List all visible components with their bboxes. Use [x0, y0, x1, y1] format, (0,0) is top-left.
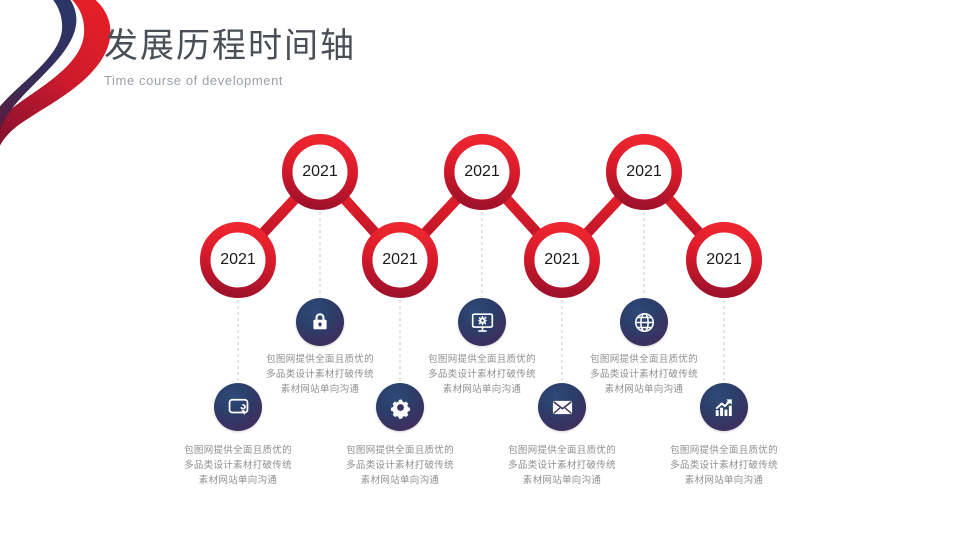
- description-line: 多品类设计素材打破传统: [407, 367, 557, 382]
- timeline-connector: [341, 195, 380, 237]
- timeline-description: 包图网提供全面且质优的多品类设计素材打破传统素材网站单向沟通: [569, 352, 719, 397]
- description-line: 多品类设计素材打破传统: [569, 367, 719, 382]
- slide-canvas: 发展历程时间轴 Time course of development 20212…: [0, 0, 960, 540]
- description-line: 素材网站单向沟通: [487, 473, 637, 488]
- timeline-year-label: 2021: [282, 163, 358, 181]
- description-line: 素材网站单向沟通: [649, 473, 799, 488]
- timeline-year-label: 2021: [362, 251, 438, 269]
- timeline-year-label: 2021: [200, 251, 276, 269]
- globe-icon[interactable]: [620, 298, 668, 346]
- timeline-year-label: 2021: [686, 251, 762, 269]
- timeline-description: 包图网提供全面且质优的多品类设计素材打破传统素材网站单向沟通: [407, 352, 557, 397]
- description-line: 多品类设计素材打破传统: [245, 367, 395, 382]
- timeline-connector: [665, 195, 704, 237]
- timeline-connector: [421, 194, 461, 237]
- timeline-connector: [259, 194, 299, 237]
- timeline-description: 包图网提供全面且质优的多品类设计素材打破传统素材网站单向沟通: [325, 443, 475, 488]
- timeline-description: 包图网提供全面且质优的多品类设计素材打破传统素材网站单向沟通: [649, 443, 799, 488]
- description-line: 素材网站单向沟通: [569, 382, 719, 397]
- description-line: 多品类设计素材打破传统: [163, 458, 313, 473]
- description-line: 包图网提供全面且质优的: [245, 352, 395, 367]
- description-line: 包图网提供全面且质优的: [569, 352, 719, 367]
- description-line: 包图网提供全面且质优的: [649, 443, 799, 458]
- timeline-graphics: [0, 0, 960, 540]
- description-line: 素材网站单向沟通: [245, 382, 395, 397]
- timeline-description: 包图网提供全面且质优的多品类设计素材打破传统素材网站单向沟通: [163, 443, 313, 488]
- description-line: 包图网提供全面且质优的: [407, 352, 557, 367]
- description-line: 包图网提供全面且质优的: [487, 443, 637, 458]
- description-line: 多品类设计素材打破传统: [487, 458, 637, 473]
- description-line: 多品类设计素材打破传统: [649, 458, 799, 473]
- timeline-description: 包图网提供全面且质优的多品类设计素材打破传统素材网站单向沟通: [245, 352, 395, 397]
- lock-icon[interactable]: [296, 298, 344, 346]
- timeline-connector: [583, 194, 623, 237]
- timeline-year-label: 2021: [606, 163, 682, 181]
- monitor-gear-icon[interactable]: [458, 298, 506, 346]
- description-line: 多品类设计素材打破传统: [325, 458, 475, 473]
- description-line: 素材网站单向沟通: [325, 473, 475, 488]
- timeline-description: 包图网提供全面且质优的多品类设计素材打破传统素材网站单向沟通: [487, 443, 637, 488]
- description-line: 包图网提供全面且质优的: [163, 443, 313, 458]
- description-line: 素材网站单向沟通: [407, 382, 557, 397]
- timeline-year-label: 2021: [524, 251, 600, 269]
- description-line: 素材网站单向沟通: [163, 473, 313, 488]
- description-line: 包图网提供全面且质优的: [325, 443, 475, 458]
- timeline-year-label: 2021: [444, 163, 520, 181]
- timeline-connector: [503, 195, 542, 237]
